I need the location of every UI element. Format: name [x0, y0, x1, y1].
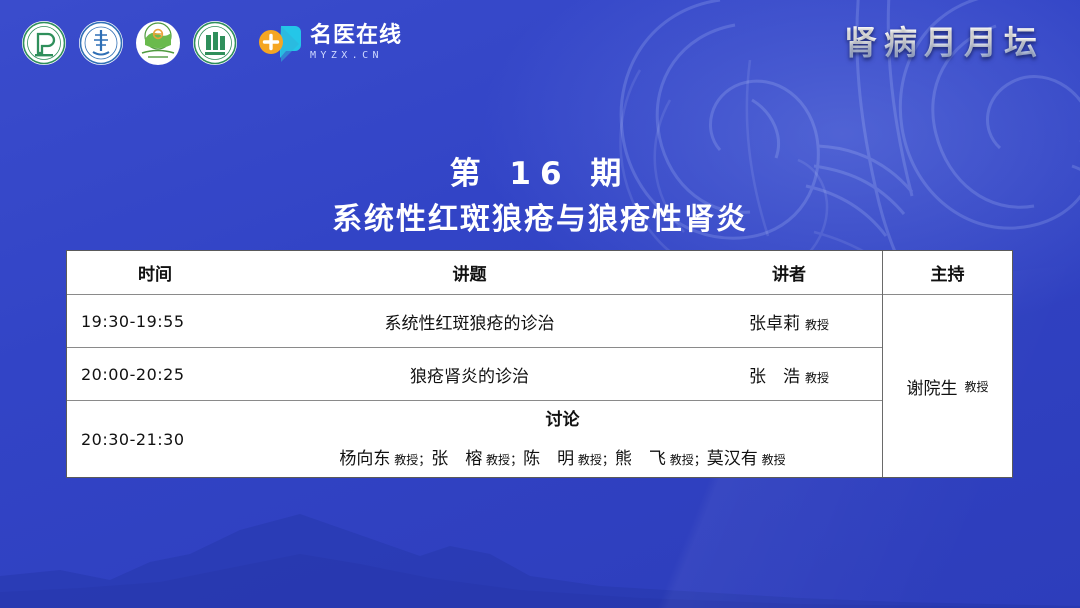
host-name: 谢院生: [906, 374, 957, 399]
header-bar: 名医在线 MYZX.CN 肾病月月坛: [0, 0, 1080, 86]
panelist-title: 教授: [758, 453, 786, 467]
panelist-name: 熊 飞: [615, 449, 666, 469]
cell-time: 19:30-19:55: [67, 312, 243, 331]
cell-time: 20:30-21:30: [67, 430, 243, 449]
discussion-panelists: 杨向东 教授；张 榕 教授；陈 明 教授；熊 飞 教授；莫汉有 教授: [339, 444, 785, 469]
panelist-separator: ；: [510, 453, 523, 468]
column-header-host-cell: 主持: [883, 251, 1012, 295]
discussion-block: 讨论 杨向东 教授；张 榕 教授；陈 明 教授；熊 飞 教授；莫汉有 教授: [243, 405, 882, 473]
brand-title: 肾病月月坛: [844, 16, 1044, 64]
discussion-label: 讨论: [546, 405, 580, 430]
page-title: 系统性红斑狼疮与狼疮性肾炎: [0, 194, 1080, 238]
panelist-title: 教授: [390, 453, 418, 467]
panelist-name: 张 榕: [431, 449, 482, 469]
hospital-logo-3: [136, 21, 180, 65]
cell-topic: 系统性红斑狼疮的诊治: [243, 309, 696, 334]
schedule-table: 时间 讲题 讲者 19:30-19:55 系统性红斑狼疮的诊治 张卓莉教授 20…: [66, 250, 1013, 478]
table-row: 19:30-19:55 系统性红斑狼疮的诊治 张卓莉教授: [67, 295, 882, 348]
cell-speaker: 张卓莉教授: [696, 309, 882, 334]
panelist-name: 杨向东: [339, 449, 390, 469]
hospital-logo-4: [193, 21, 237, 65]
column-header-topic: 讲题: [243, 260, 696, 285]
schedule-host-column: 主持 谢院生 教授: [883, 251, 1012, 477]
column-header-speaker: 讲者: [696, 260, 882, 285]
speaker-name: 张卓莉: [749, 314, 800, 334]
column-header-time: 时间: [67, 260, 243, 285]
cell-speaker: 张 浩教授: [696, 362, 882, 387]
slide-canvas: 名医在线 MYZX.CN 肾病月月坛 第 16 期 系统性红斑狼疮与狼疮性肾炎 …: [0, 0, 1080, 608]
hospital-logo-1: [22, 21, 66, 65]
column-header-host: 主持: [931, 260, 965, 285]
speaker-name: 张 浩: [749, 367, 800, 387]
partner-name-cn: 名医在线: [310, 25, 402, 47]
panelist-name: 陈 明: [523, 449, 574, 469]
panelist-title: 教授: [666, 453, 694, 467]
schedule-main-columns: 时间 讲题 讲者 19:30-19:55 系统性红斑狼疮的诊治 张卓莉教授 20…: [67, 251, 883, 477]
logo-strip: 名医在线 MYZX.CN: [22, 21, 402, 65]
cell-time: 20:00-20:25: [67, 365, 243, 384]
speaker-title: 教授: [805, 318, 829, 332]
panelist-name: 莫汉有: [707, 449, 758, 469]
partner-logo-myzx: 名医在线 MYZX.CN: [257, 22, 402, 64]
table-row: 20:00-20:25 狼疮肾炎的诊治 张 浩教授: [67, 348, 882, 401]
host-title: 教授: [964, 378, 988, 395]
panelist-separator: ；: [418, 453, 431, 468]
plus-heart-icon: [257, 22, 303, 64]
panelist-separator: ；: [602, 453, 615, 468]
table-header-row: 时间 讲题 讲者: [67, 251, 882, 295]
panelist-title: 教授: [482, 453, 510, 467]
speaker-title: 教授: [805, 371, 829, 385]
partner-logo-text: 名医在线 MYZX.CN: [310, 25, 402, 61]
table-row-discussion: 20:30-21:30 讨论 杨向东 教授；张 榕 教授；陈 明 教授；熊 飞 …: [67, 401, 882, 477]
partner-name-en: MYZX.CN: [310, 51, 402, 61]
hospital-logo-2: [79, 21, 123, 65]
issue-number: 第 16 期: [0, 148, 1080, 193]
cell-topic: 狼疮肾炎的诊治: [243, 362, 696, 387]
panelist-title: 教授: [574, 453, 602, 467]
panelist-separator: ；: [694, 453, 707, 468]
cell-host: 谢院生 教授: [883, 295, 1012, 477]
